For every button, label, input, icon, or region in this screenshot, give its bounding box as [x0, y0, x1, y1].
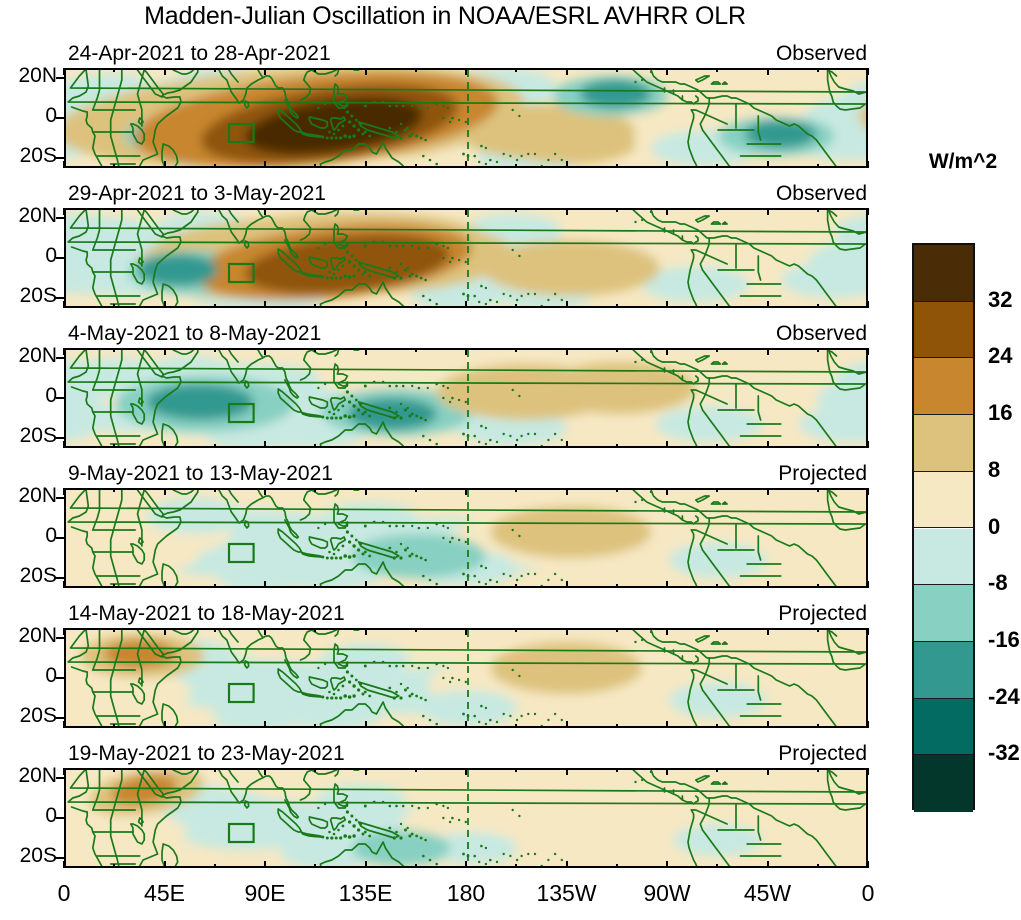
- x-axis-tick: [314, 348, 316, 352]
- x-axis-tick: [817, 864, 819, 868]
- x-axis-tick: [465, 301, 467, 308]
- x-axis-tick: [566, 301, 568, 308]
- x-axis-tick: [465, 628, 467, 635]
- y-axis-label: 0: [45, 805, 57, 826]
- colorbar-tick-label: 8: [988, 457, 1000, 483]
- colorbar-tick-label: -32: [988, 740, 1020, 766]
- y-axis-tick: [56, 257, 64, 259]
- y-axis-tick: [56, 117, 64, 119]
- x-axis-tick: [214, 164, 216, 168]
- x-axis-tick: [867, 68, 869, 75]
- x-axis-tick-label: 90W: [643, 880, 690, 907]
- x-axis-tick: [214, 864, 216, 868]
- colorbar-band: [914, 755, 973, 812]
- colorbar-band: [914, 642, 973, 699]
- y-axis-tick: [56, 217, 64, 219]
- x-axis-tick: [817, 68, 819, 72]
- x-axis-tick: [616, 348, 618, 352]
- x-axis-tick: [767, 348, 769, 355]
- x-axis-tick: [515, 348, 517, 352]
- y-axis-label: 20S: [20, 705, 57, 726]
- colorbar-band: [914, 358, 973, 415]
- y-axis-label: 20N: [18, 205, 57, 226]
- panel-header: 9-May-2021 to 13-May-2021Projected: [64, 462, 868, 486]
- x-axis-tick: [867, 161, 869, 168]
- x-axis-tick: [767, 721, 769, 728]
- y-axis-label: 0: [45, 525, 57, 546]
- x-axis-tick: [616, 768, 618, 772]
- x-axis-tick: [817, 628, 819, 632]
- x-axis-tick: [365, 861, 367, 868]
- y-axis-tick: [56, 357, 64, 359]
- x-axis-tick: [214, 304, 216, 308]
- x-axis-tick: [164, 721, 166, 728]
- olr-anomaly-map: [64, 68, 868, 168]
- x-axis-tick: [264, 68, 266, 75]
- x-axis-tick: [264, 488, 266, 495]
- x-axis-tick: [666, 581, 668, 588]
- panel-status-label: Observed: [776, 42, 867, 66]
- x-axis-tick: [264, 441, 266, 448]
- panel-header: 29-Apr-2021 to 3-May-2021Observed: [64, 182, 868, 206]
- x-axis-tick: [515, 208, 517, 212]
- y-axis-tick: [56, 397, 64, 399]
- x-axis-tick: [214, 68, 216, 72]
- x-axis-tick: [63, 348, 65, 355]
- panel-date-range: 24-Apr-2021 to 28-Apr-2021: [68, 42, 331, 66]
- x-axis-tick: [817, 584, 819, 588]
- x-axis-tick: [63, 721, 65, 728]
- x-axis-tick: [616, 304, 618, 308]
- x-axis-tick: [365, 301, 367, 308]
- y-axis-label: 0: [45, 385, 57, 406]
- x-axis-tick: [515, 768, 517, 772]
- x-axis-tick: [666, 68, 668, 75]
- x-axis-tick: [415, 304, 417, 308]
- x-axis-tick: [767, 488, 769, 495]
- x-axis-tick: [214, 724, 216, 728]
- x-axis-tick: [767, 768, 769, 775]
- x-axis-tick: [214, 628, 216, 632]
- colorbar-band: [914, 529, 973, 586]
- x-axis-tick: [515, 444, 517, 448]
- colorbar-band: [914, 472, 973, 529]
- y-axis-tick: [56, 157, 64, 159]
- colorbar-band: [914, 302, 973, 359]
- x-axis-tick: [214, 208, 216, 212]
- x-axis-tick-label: 135E: [339, 880, 393, 907]
- x-axis-tick: [264, 861, 266, 868]
- x-axis-tick: [716, 164, 718, 168]
- olr-anomaly-map: [64, 208, 868, 308]
- x-axis-tick: [264, 161, 266, 168]
- x-axis-tick: [566, 348, 568, 355]
- x-axis-tick: [566, 581, 568, 588]
- x-axis-tick: [666, 628, 668, 635]
- x-axis-tick: [63, 861, 65, 868]
- x-axis-tick: [365, 721, 367, 728]
- y-axis-label: 20S: [20, 285, 57, 306]
- x-axis-tick: [314, 724, 316, 728]
- x-axis-tick: [666, 768, 668, 775]
- x-axis-tick: [767, 861, 769, 868]
- panel-date-range: 14-May-2021 to 18-May-2021: [68, 602, 345, 626]
- colorbar-tick-label: -16: [988, 627, 1020, 653]
- x-axis-tick: [867, 768, 869, 775]
- x-axis-tick: [314, 68, 316, 72]
- x-axis-tick: [666, 861, 668, 868]
- x-axis-tick: [63, 161, 65, 168]
- x-axis-tick-label: 0: [862, 880, 875, 907]
- y-axis-label: 20S: [20, 845, 57, 866]
- x-axis-tick: [867, 628, 869, 635]
- colorbar-band: [914, 245, 973, 302]
- x-axis-tick: [314, 304, 316, 308]
- x-axis-tick: [566, 441, 568, 448]
- colorbar-tick-label: 32: [988, 287, 1012, 313]
- x-axis-tick: [365, 768, 367, 775]
- x-axis-tick: [264, 581, 266, 588]
- panel-header: 4-May-2021 to 8-May-2021Observed: [64, 322, 868, 346]
- x-axis-tick: [314, 864, 316, 868]
- x-axis-tick: [616, 444, 618, 448]
- panel-status-label: Projected: [778, 462, 867, 486]
- x-axis-tick: [817, 768, 819, 772]
- x-axis-tick-label: 180: [447, 880, 485, 907]
- x-axis-tick: [465, 441, 467, 448]
- colorbar-tick-label: 24: [988, 343, 1012, 369]
- x-axis-tick: [113, 444, 115, 448]
- x-axis-tick: [515, 164, 517, 168]
- y-axis-tick: [56, 297, 64, 299]
- x-axis-tick: [867, 441, 869, 448]
- colorbar-tick-label: -8: [988, 570, 1008, 596]
- x-axis-tick: [113, 584, 115, 588]
- x-axis-tick: [867, 301, 869, 308]
- panel-date-range: 19-May-2021 to 23-May-2021: [68, 742, 345, 766]
- y-axis-label: 20N: [18, 625, 57, 646]
- x-axis-tick: [817, 724, 819, 728]
- x-axis-tick: [164, 861, 166, 868]
- x-axis-tick: [214, 488, 216, 492]
- x-axis-tick: [515, 584, 517, 588]
- x-axis-tick: [214, 768, 216, 772]
- x-axis-tick: [716, 768, 718, 772]
- x-axis-tick: [113, 68, 115, 72]
- x-axis-tick: [113, 768, 115, 772]
- panel-status-label: Observed: [776, 322, 867, 346]
- x-axis-tick: [666, 488, 668, 495]
- olr-anomaly-map: [64, 348, 868, 448]
- x-axis-tick: [314, 164, 316, 168]
- x-axis-tick: [314, 584, 316, 588]
- colorbar-units-label: W/m^2: [908, 150, 1018, 174]
- x-axis-tick: [767, 68, 769, 75]
- x-axis-tick: [817, 488, 819, 492]
- x-axis-tick: [113, 164, 115, 168]
- x-axis-tick: [515, 68, 517, 72]
- x-axis-tick: [164, 628, 166, 635]
- x-axis-tick: [415, 488, 417, 492]
- panel-status-label: Projected: [778, 602, 867, 626]
- x-axis-tick: [716, 348, 718, 352]
- x-axis-tick: [113, 724, 115, 728]
- x-axis-tick: [264, 348, 266, 355]
- x-axis-tick: [867, 581, 869, 588]
- x-axis-tick: [63, 581, 65, 588]
- x-axis-tick: [566, 208, 568, 215]
- x-axis-tick: [666, 348, 668, 355]
- x-axis-tick: [566, 628, 568, 635]
- x-axis-tick: [113, 208, 115, 212]
- x-axis-tick: [314, 488, 316, 492]
- x-axis-tick: [465, 208, 467, 215]
- x-axis-tick: [214, 348, 216, 352]
- x-axis-tick: [314, 628, 316, 632]
- y-axis-tick: [56, 537, 64, 539]
- x-axis-tick: [365, 488, 367, 495]
- y-axis-tick: [56, 577, 64, 579]
- x-axis-tick: [365, 68, 367, 75]
- x-axis-tick: [666, 721, 668, 728]
- x-axis-tick: [415, 208, 417, 212]
- x-axis-tick: [164, 581, 166, 588]
- x-axis-tick: [164, 441, 166, 448]
- x-axis-tick: [465, 348, 467, 355]
- panel-date-range: 29-Apr-2021 to 3-May-2021: [68, 182, 326, 206]
- x-axis-tick: [63, 488, 65, 495]
- colorbar: [912, 243, 975, 810]
- x-axis-tick: [515, 628, 517, 632]
- x-axis-tick: [867, 861, 869, 868]
- x-axis-tick: [314, 768, 316, 772]
- x-axis-tick: [113, 348, 115, 352]
- x-axis-tick: [365, 581, 367, 588]
- colorbar-tick-label: -24: [988, 684, 1020, 710]
- x-axis-tick: [566, 161, 568, 168]
- x-axis-tick: [415, 864, 417, 868]
- x-axis-tick: [415, 584, 417, 588]
- x-axis-tick: [716, 68, 718, 72]
- x-axis-tick: [264, 768, 266, 775]
- x-axis-tick: [566, 861, 568, 868]
- x-axis-tick: [767, 581, 769, 588]
- y-axis-label: 0: [45, 105, 57, 126]
- x-axis-tick: [616, 208, 618, 212]
- y-axis-label: 20N: [18, 485, 57, 506]
- x-axis-tick: [264, 628, 266, 635]
- panel-status-label: Observed: [776, 182, 867, 206]
- panel-status-label: Projected: [778, 742, 867, 766]
- y-axis-tick: [56, 817, 64, 819]
- x-axis-tick: [767, 208, 769, 215]
- x-axis-tick: [566, 68, 568, 75]
- x-axis-tick: [113, 304, 115, 308]
- y-axis-label: 20S: [20, 145, 57, 166]
- x-axis-tick: [164, 208, 166, 215]
- y-axis-label: 20S: [20, 565, 57, 586]
- x-axis-tick: [113, 864, 115, 868]
- panel-header: 19-May-2021 to 23-May-2021Projected: [64, 742, 868, 766]
- x-axis-tick-label: 90E: [245, 880, 286, 907]
- x-axis-tick: [164, 68, 166, 75]
- x-axis-tick: [616, 164, 618, 168]
- x-axis-tick: [314, 208, 316, 212]
- x-axis-tick: [465, 721, 467, 728]
- x-axis-tick-label: 45W: [744, 880, 791, 907]
- x-axis-tick: [867, 488, 869, 495]
- page-title: Madden-Julian Oscillation in NOAA/ESRL A…: [0, 2, 890, 31]
- x-axis-tick: [164, 301, 166, 308]
- x-axis-tick: [365, 348, 367, 355]
- x-axis-tick: [465, 768, 467, 775]
- x-axis-tick: [214, 444, 216, 448]
- x-axis-tick: [666, 301, 668, 308]
- y-axis-tick: [56, 77, 64, 79]
- x-axis-tick: [616, 68, 618, 72]
- x-axis-tick: [616, 584, 618, 588]
- x-axis-tick: [113, 628, 115, 632]
- panel-date-range: 4-May-2021 to 8-May-2021: [68, 322, 321, 346]
- x-axis-tick: [63, 68, 65, 75]
- x-axis-tick: [817, 164, 819, 168]
- y-axis-label: 0: [45, 245, 57, 266]
- x-axis-tick: [515, 304, 517, 308]
- x-axis-tick: [365, 161, 367, 168]
- x-axis-tick: [214, 584, 216, 588]
- y-axis-label: 20N: [18, 345, 57, 366]
- x-axis-tick: [716, 444, 718, 448]
- y-axis-label: 20N: [18, 65, 57, 86]
- x-axis-tick: [164, 161, 166, 168]
- x-axis-tick: [767, 161, 769, 168]
- x-axis-tick: [415, 768, 417, 772]
- x-axis-tick: [616, 864, 618, 868]
- x-axis-tick: [716, 208, 718, 212]
- y-axis-tick: [56, 637, 64, 639]
- x-axis-tick: [616, 724, 618, 728]
- colorbar-tick-label: 16: [988, 400, 1012, 426]
- colorbar-band: [914, 415, 973, 472]
- x-axis-tick: [314, 444, 316, 448]
- y-axis-tick: [56, 857, 64, 859]
- x-axis-tick: [666, 441, 668, 448]
- x-axis-tick: [63, 208, 65, 215]
- x-axis-tick: [465, 581, 467, 588]
- colorbar-band: [914, 585, 973, 642]
- y-axis-label: 20S: [20, 425, 57, 446]
- x-axis-tick: [465, 861, 467, 868]
- x-axis-tick: [716, 488, 718, 492]
- panel-header: 14-May-2021 to 18-May-2021Projected: [64, 602, 868, 626]
- x-axis-tick: [767, 628, 769, 635]
- olr-anomaly-map: [64, 628, 868, 728]
- x-axis-tick: [415, 164, 417, 168]
- x-axis-tick: [616, 488, 618, 492]
- x-axis-tick: [817, 444, 819, 448]
- x-axis-tick: [716, 584, 718, 588]
- olr-anomaly-map: [64, 768, 868, 868]
- x-axis-tick-label: 0: [58, 880, 71, 907]
- x-axis-tick: [63, 628, 65, 635]
- x-axis-tick: [63, 441, 65, 448]
- x-axis-tick: [515, 724, 517, 728]
- x-axis-tick: [666, 161, 668, 168]
- x-axis-tick: [867, 208, 869, 215]
- x-axis-tick: [716, 628, 718, 632]
- x-axis-tick: [164, 348, 166, 355]
- x-axis-tick: [264, 301, 266, 308]
- colorbar-tick-label: 0: [988, 514, 1000, 540]
- y-axis-label: 20N: [18, 765, 57, 786]
- x-axis-tick: [817, 348, 819, 352]
- x-axis-tick: [264, 208, 266, 215]
- x-axis-tick: [716, 864, 718, 868]
- x-axis-tick: [566, 768, 568, 775]
- y-axis-tick: [56, 777, 64, 779]
- x-axis-tick-label: 45E: [144, 880, 185, 907]
- x-axis-tick: [716, 304, 718, 308]
- x-axis-tick: [666, 208, 668, 215]
- x-axis-tick: [264, 721, 266, 728]
- x-axis-tick: [867, 348, 869, 355]
- y-axis-tick: [56, 717, 64, 719]
- x-axis-tick: [515, 864, 517, 868]
- panel-date-range: 9-May-2021 to 13-May-2021: [68, 462, 333, 486]
- x-axis-tick: [465, 68, 467, 75]
- x-axis-tick: [63, 301, 65, 308]
- x-axis-tick: [415, 724, 417, 728]
- x-axis-tick: [817, 208, 819, 212]
- x-axis-tick: [566, 488, 568, 495]
- x-axis-tick: [365, 441, 367, 448]
- x-axis-tick: [365, 208, 367, 215]
- y-axis-tick: [56, 677, 64, 679]
- colorbar-band: [914, 699, 973, 756]
- x-axis-tick: [415, 444, 417, 448]
- x-axis-tick: [817, 304, 819, 308]
- x-axis-tick-label: 135W: [536, 880, 596, 907]
- x-axis-tick: [465, 161, 467, 168]
- x-axis-tick: [465, 488, 467, 495]
- y-axis-label: 0: [45, 665, 57, 686]
- x-axis-tick: [616, 628, 618, 632]
- x-axis-tick: [164, 488, 166, 495]
- x-axis-tick: [867, 721, 869, 728]
- y-axis-tick: [56, 437, 64, 439]
- x-axis-tick: [767, 301, 769, 308]
- x-axis-tick: [113, 488, 115, 492]
- x-axis-tick: [767, 441, 769, 448]
- mjo-olr-figure: Madden-Julian Oscillation in NOAA/ESRL A…: [0, 0, 1021, 920]
- x-axis-tick: [415, 628, 417, 632]
- x-axis-tick: [515, 488, 517, 492]
- x-axis-tick: [415, 68, 417, 72]
- x-axis-tick: [63, 768, 65, 775]
- panel-header: 24-Apr-2021 to 28-Apr-2021Observed: [64, 42, 868, 66]
- x-axis-tick: [566, 721, 568, 728]
- y-axis-tick: [56, 497, 64, 499]
- x-axis-tick: [716, 724, 718, 728]
- x-axis-tick: [164, 768, 166, 775]
- olr-anomaly-map: [64, 488, 868, 588]
- x-axis-tick: [365, 628, 367, 635]
- x-axis-tick: [415, 348, 417, 352]
